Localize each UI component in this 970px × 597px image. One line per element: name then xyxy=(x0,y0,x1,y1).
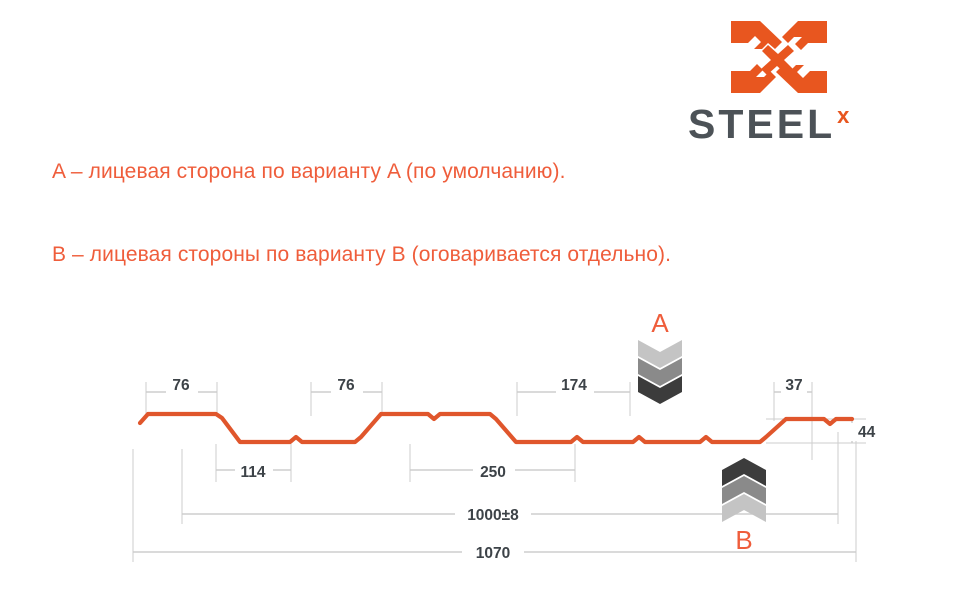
dim-label-76-left: 76 xyxy=(172,377,190,394)
marker-label-a: A xyxy=(640,308,680,339)
dim-label-37: 37 xyxy=(785,377,802,394)
profile-section-outline xyxy=(140,414,852,442)
marker-label-b: B xyxy=(724,525,764,556)
profile-technical-drawing: 76 76 174 37 114 250 1000±8 1070 44 xyxy=(0,0,970,597)
dimension-text-backdrops xyxy=(166,383,874,562)
dim-label-174: 174 xyxy=(561,377,587,394)
dim-label-250: 250 xyxy=(480,464,506,481)
dim-label-1000: 1000±8 xyxy=(467,507,519,524)
marker-b-chevrons xyxy=(722,458,766,522)
dim-label-1070: 1070 xyxy=(476,545,510,562)
marker-a-chevrons xyxy=(638,340,682,404)
dim-label-114: 114 xyxy=(240,464,265,481)
dim-label-44: 44 xyxy=(858,424,876,441)
dim-label-76-mid: 76 xyxy=(337,377,355,394)
